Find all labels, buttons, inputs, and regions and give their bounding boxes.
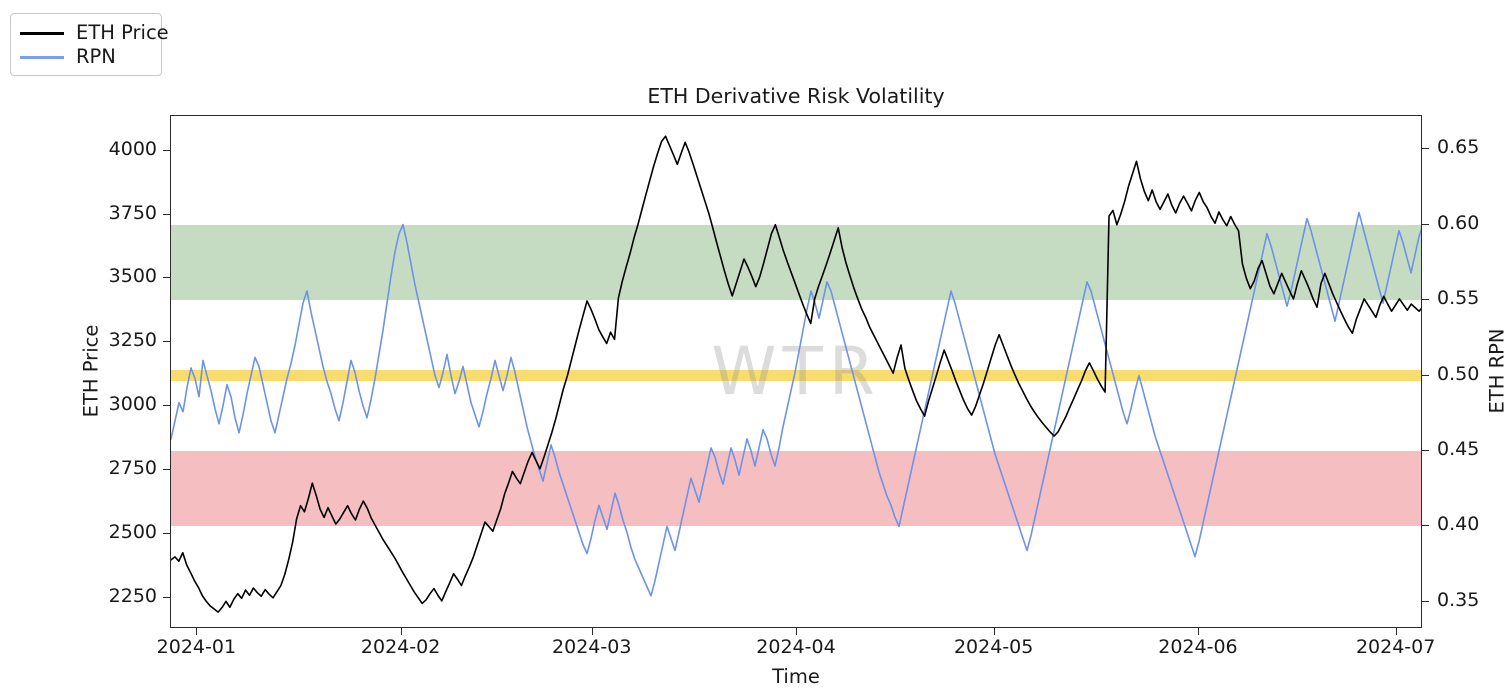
x-tick bbox=[994, 628, 995, 635]
y-axis-right-title: ETH RPN bbox=[1486, 329, 1509, 414]
y-tick-label-right: 0.50 bbox=[1437, 363, 1479, 385]
line-series-eth-price bbox=[171, 136, 1422, 612]
y-tick-left bbox=[163, 341, 170, 342]
y-tick-left bbox=[163, 214, 170, 215]
y-tick-right bbox=[1422, 450, 1429, 451]
y-tick-right bbox=[1422, 148, 1429, 149]
y-tick-label-right: 0.55 bbox=[1437, 287, 1479, 309]
chart-title: ETH Derivative Risk Volatility bbox=[170, 84, 1422, 108]
x-tick-label: 2024-06 bbox=[1123, 636, 1273, 658]
legend-item-eth-price: ETH Price bbox=[20, 21, 152, 45]
series-layer bbox=[171, 116, 1422, 628]
y-axis-left-title: ETH Price bbox=[80, 325, 103, 418]
y-tick-label-right: 0.45 bbox=[1437, 438, 1479, 460]
legend-swatch-eth-price bbox=[20, 32, 64, 35]
line-series-rpn bbox=[171, 213, 1422, 596]
y-tick-right bbox=[1422, 224, 1429, 225]
x-tick bbox=[796, 628, 797, 635]
y-tick-left bbox=[163, 469, 170, 470]
y-tick-left bbox=[163, 405, 170, 406]
y-tick-label-right: 0.65 bbox=[1437, 136, 1479, 158]
x-tick bbox=[196, 628, 197, 635]
y-tick-left bbox=[163, 277, 170, 278]
x-tick-label: 2024-02 bbox=[326, 636, 476, 658]
x-tick-label: 2024-07 bbox=[1321, 636, 1471, 658]
y-tick-label-right: 0.35 bbox=[1437, 589, 1479, 611]
x-tick-label: 2024-04 bbox=[721, 636, 871, 658]
legend-item-rpn: RPN bbox=[20, 45, 152, 69]
y-tick-left bbox=[163, 597, 170, 598]
y-tick-left bbox=[163, 150, 170, 151]
x-tick bbox=[401, 628, 402, 635]
x-tick bbox=[1396, 628, 1397, 635]
x-tick bbox=[1198, 628, 1199, 635]
x-tick-label: 2024-05 bbox=[919, 636, 1069, 658]
y-tick-label-left: 2250 bbox=[109, 585, 157, 607]
y-tick-label-right: 0.60 bbox=[1437, 212, 1479, 234]
x-tick-label: 2024-03 bbox=[517, 636, 667, 658]
chart-figure: ETH Price RPN ETH Derivative Risk Volati… bbox=[0, 0, 1512, 697]
y-tick-label-left: 3000 bbox=[109, 393, 157, 415]
plot-area: WTR bbox=[170, 115, 1422, 628]
x-tick-label: 2024-01 bbox=[121, 636, 271, 658]
y-tick-label-left: 4000 bbox=[109, 138, 157, 160]
x-tick bbox=[592, 628, 593, 635]
y-tick-label-left: 2750 bbox=[109, 457, 157, 479]
legend-swatch-rpn bbox=[20, 56, 64, 59]
y-tick-label-left: 2500 bbox=[109, 521, 157, 543]
y-tick-right bbox=[1422, 525, 1429, 526]
legend-label-eth-price: ETH Price bbox=[76, 23, 169, 43]
legend-label-rpn: RPN bbox=[76, 47, 116, 67]
y-tick-right bbox=[1422, 601, 1429, 602]
y-tick-label-right: 0.40 bbox=[1437, 513, 1479, 535]
y-tick-right bbox=[1422, 299, 1429, 300]
y-tick-label-left: 3500 bbox=[109, 265, 157, 287]
y-tick-right bbox=[1422, 375, 1429, 376]
y-tick-label-left: 3250 bbox=[109, 329, 157, 351]
y-tick-label-left: 3750 bbox=[109, 202, 157, 224]
x-axis-title: Time bbox=[170, 665, 1422, 688]
chart-legend: ETH Price RPN bbox=[10, 13, 162, 76]
y-tick-left bbox=[163, 533, 170, 534]
